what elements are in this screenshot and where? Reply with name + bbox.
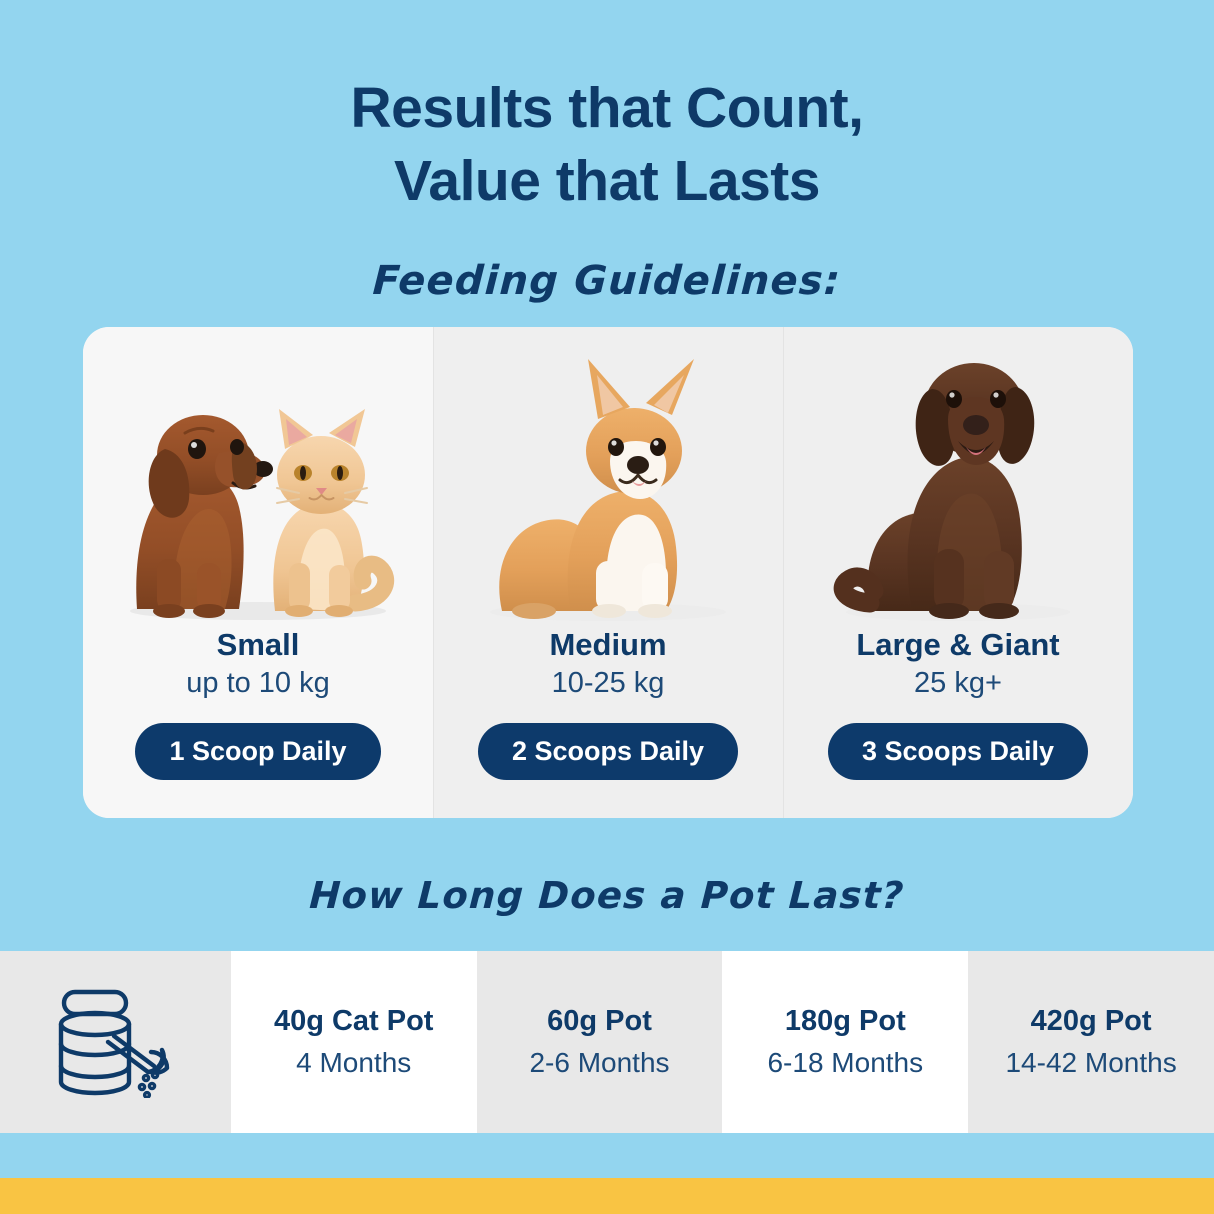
page-title-line-2: Value that Lasts bbox=[0, 145, 1214, 218]
pet-image-medium bbox=[433, 327, 783, 627]
pot-cell-60g: 60g Pot 2-6 Months bbox=[477, 951, 723, 1133]
supplement-pot-with-scoop-icon bbox=[52, 986, 178, 1098]
feeding-column-medium: Medium 10-25 kg 2 Scoops Daily bbox=[433, 327, 783, 818]
feeding-column-small: Small up to 10 kg 1 Scoop Daily bbox=[83, 327, 433, 818]
feeding-size-label: Large & Giant bbox=[856, 627, 1059, 663]
pot-duration: 2-6 Months bbox=[529, 1047, 669, 1079]
pot-duration-band: 40g Cat Pot 4 Months 60g Pot 2-6 Months … bbox=[0, 951, 1214, 1133]
dose-badge-small[interactable]: 1 Scoop Daily bbox=[135, 723, 380, 780]
feeding-weight-label: 10-25 kg bbox=[552, 665, 665, 701]
chocolate-labrador-illustration bbox=[808, 327, 1108, 623]
pot-last-heading: How Long Does a Pot Last? bbox=[0, 874, 1214, 917]
pet-image-large bbox=[783, 327, 1133, 627]
pot-cell-420g: 420g Pot 14-42 Months bbox=[968, 951, 1214, 1133]
feeding-guidelines-heading: Feeding Guidelines: bbox=[0, 258, 1214, 304]
corgi-illustration bbox=[458, 327, 758, 623]
feeding-weight-label: 25 kg+ bbox=[914, 665, 1002, 701]
feeding-guidelines-card: Small up to 10 kg 1 Scoop Daily bbox=[83, 327, 1133, 818]
pot-cell-40g: 40g Cat Pot 4 Months bbox=[231, 951, 477, 1133]
pot-duration: 14-42 Months bbox=[1005, 1047, 1176, 1079]
feeding-weight-label: up to 10 kg bbox=[186, 665, 330, 701]
pot-icon-cell bbox=[0, 951, 231, 1133]
pot-name: 60g Pot bbox=[547, 1005, 652, 1038]
pot-duration: 4 Months bbox=[296, 1047, 411, 1079]
pot-name: 420g Pot bbox=[1031, 1005, 1152, 1038]
pot-name: 40g Cat Pot bbox=[274, 1005, 434, 1038]
footer-blue-stripe bbox=[0, 1133, 1214, 1178]
feeding-column-large: Large & Giant 25 kg+ 3 Scoops Daily bbox=[783, 327, 1133, 818]
dose-badge-large[interactable]: 3 Scoops Daily bbox=[828, 723, 1088, 780]
pet-image-small bbox=[83, 327, 433, 627]
dose-badge-medium[interactable]: 2 Scoops Daily bbox=[478, 723, 738, 780]
dachshund-and-kitten-illustration bbox=[93, 327, 423, 623]
footer-yellow-stripe bbox=[0, 1178, 1214, 1214]
page-title-line-1: Results that Count, bbox=[0, 72, 1214, 145]
page-title: Results that Count, Value that Lasts bbox=[0, 0, 1214, 218]
feeding-size-label: Medium bbox=[549, 627, 666, 663]
pot-name: 180g Pot bbox=[785, 1005, 906, 1038]
feeding-size-label: Small bbox=[217, 627, 300, 663]
pot-duration: 6-18 Months bbox=[767, 1047, 923, 1079]
pot-cell-180g: 180g Pot 6-18 Months bbox=[722, 951, 968, 1133]
